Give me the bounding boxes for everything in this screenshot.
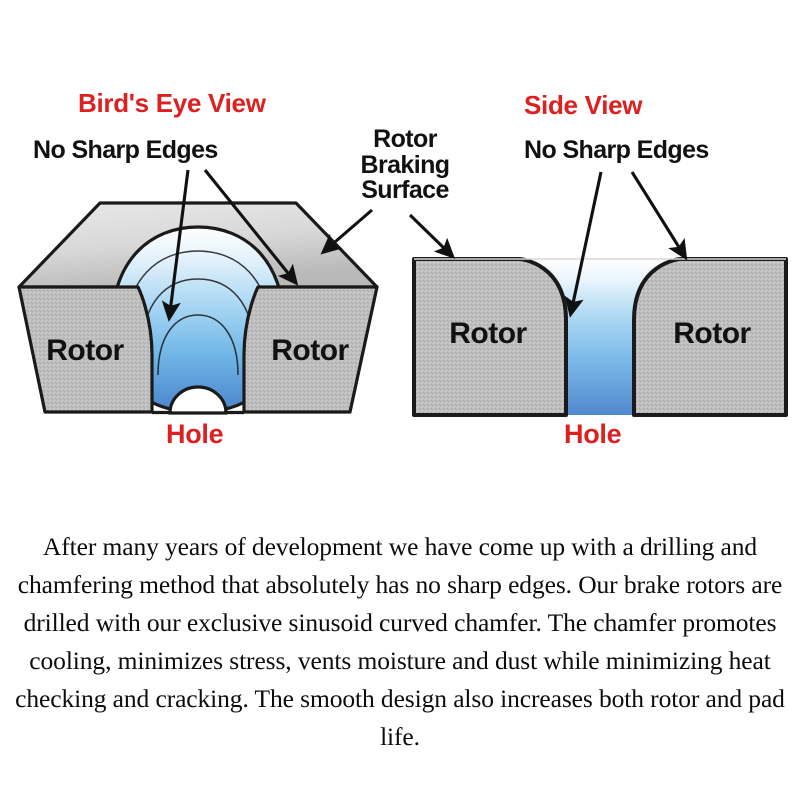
description-paragraph: After many years of development we have … xyxy=(8,528,792,756)
arrow-be-no-sharp-edges-right xyxy=(205,170,292,278)
arrow-be-no-sharp-edges-left xyxy=(170,170,188,312)
arrow-braking-surface-to-birds-eye xyxy=(328,210,372,248)
arrow-sv-no-sharp-edges-left xyxy=(572,172,601,308)
diagram-page: Bird's Eye View Side View No Sharp Edges… xyxy=(0,0,800,800)
callout-arrows-layer xyxy=(0,0,800,500)
arrow-sv-no-sharp-edges-right xyxy=(632,172,682,252)
arrow-braking-surface-to-side-view xyxy=(410,215,448,252)
